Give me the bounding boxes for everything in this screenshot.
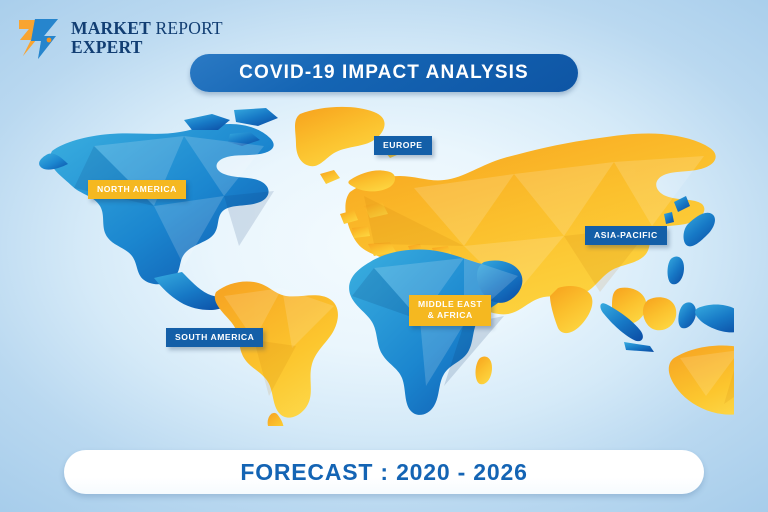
forecast-text: FORECAST : 2020 - 2026: [240, 459, 527, 486]
brand-word-report: REPORT: [156, 18, 223, 38]
title-banner: COVID-19 IMPACT ANALYSIS: [190, 54, 578, 92]
market-report-expert-logo-icon: [14, 14, 62, 62]
region-label-asia-pacific[interactable]: ASIA-PACIFIC: [585, 226, 667, 245]
greenland: [295, 107, 385, 166]
brand-word-market: MARKET: [71, 18, 151, 38]
region-label-south-america[interactable]: SOUTH AMERICA: [166, 328, 263, 347]
page-title: COVID-19 IMPACT ANALYSIS: [239, 62, 529, 84]
region-label-text: SOUTH AMERICA: [175, 332, 254, 343]
forecast-banner: FORECAST : 2020 - 2026: [64, 450, 704, 494]
brand-logo[interactable]: MARKET REPORT EXPERT: [14, 14, 223, 62]
region-label-text-line1: MIDDLE EAST: [418, 299, 482, 310]
region-label-text: EUROPE: [383, 140, 423, 151]
brand-word-expert: EXPERT: [71, 38, 223, 57]
region-label-text: NORTH AMERICA: [97, 184, 177, 195]
region-label-europe[interactable]: EUROPE: [374, 136, 432, 155]
region-label-middle-east-africa[interactable]: MIDDLE EAST & AFRICA: [409, 295, 491, 326]
region-label-north-america[interactable]: NORTH AMERICA: [88, 180, 186, 199]
region-label-text: ASIA-PACIFIC: [594, 230, 658, 241]
region-label-text-line2: & AFRICA: [428, 310, 473, 321]
region-south-america[interactable]: [215, 281, 338, 426]
region-middle-east-africa[interactable]: [349, 250, 522, 415]
poster-root: MARKET REPORT EXPERT COVID-19 IMPACT ANA…: [0, 0, 768, 512]
brand-wordmark: MARKET REPORT EXPERT: [71, 19, 223, 57]
